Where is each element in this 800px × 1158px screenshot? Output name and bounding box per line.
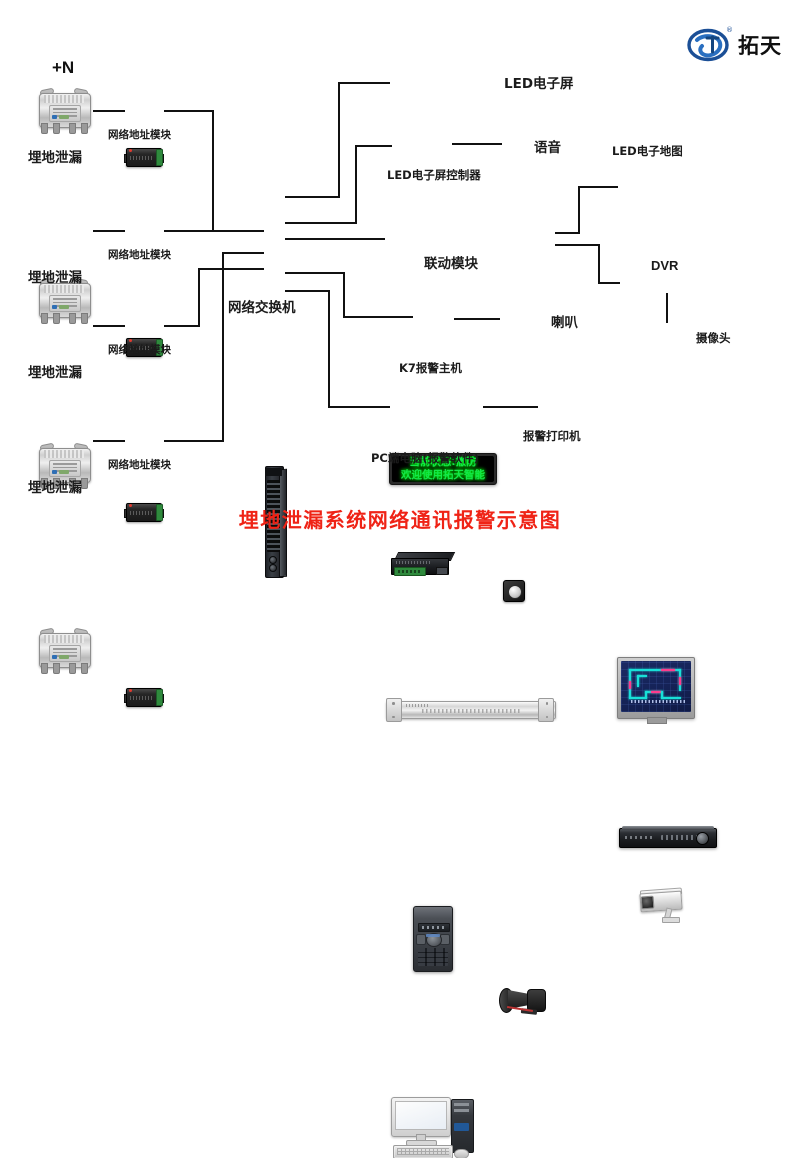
brand-name: 拓天 [738,30,782,60]
wire-switch-pc-h1 [285,290,330,292]
wire-switch-ledctl-h1 [285,222,357,224]
buried-leak-sensor-2-label: 埋地泄漏 [28,266,82,286]
led-screen-controller[interactable] [391,552,453,578]
wire-k7-speaker [454,318,500,320]
wire-sensor4-module4 [93,440,125,442]
wire-trunk3-switch [198,268,264,270]
pc-workstation-label: PC端电脑(报警软件) [371,450,479,466]
buried-leak-sensor-1-label: 埋地泄漏 [28,146,82,166]
surveillance-camera[interactable] [638,886,694,926]
wire-switch-k7-h2 [343,316,413,318]
buried-leak-sensor-1[interactable] [35,88,93,134]
wire-linkage-dvr-h1 [555,244,600,246]
wire-switch-pc-v [328,290,330,408]
voice-announcer-label: 语音 [534,136,561,156]
wire-linkage-map-h1 [555,232,580,234]
plus-n-label: +N [52,58,74,78]
wire-switch-ledctl-h2 [355,145,392,147]
wire-switch-linkage [285,238,385,240]
k7-alarm-host-label: K7报警主机 [399,360,462,376]
k7-alarm-host[interactable] [413,906,453,972]
wire-trunk4-up [222,252,224,442]
wire-sensor1-module1 [93,110,125,112]
wire-switch-k7-v [343,272,345,318]
network-address-module-3-label: 网络地址模块 [108,342,171,357]
linkage-module-label: 联动模块 [424,252,478,272]
wire-dvr-camera [666,293,668,323]
wire-linkage-map-h2 [578,186,618,188]
horn-speaker[interactable] [499,984,549,1016]
network-address-module-1-label: 网络地址模块 [108,127,171,142]
surveillance-camera-label: 摄像头 [696,330,731,346]
wire-module1-trunk [164,110,214,112]
buried-leak-sensor-4-label: 埋地泄漏 [28,476,82,496]
network-switch-label: 网络交换机 [228,296,296,316]
wire-trunk4-switch [222,252,264,254]
brand-logo: ® 拓天 [687,28,782,62]
wire-switch-ledscreen-v [338,82,340,198]
pc-workstation[interactable] [391,1097,483,1158]
wire-sensor2-module2 [93,230,125,232]
network-address-module-2-label: 网络地址模块 [108,247,171,262]
wire-trunk1-down [212,110,214,230]
wire-module4-trunk [164,440,224,442]
wire-sensor3-module3 [93,325,125,327]
led-screen-line2: 欢迎使用拓天智能 [392,469,494,482]
wire-switch-k7-h1 [285,272,345,274]
voice-announcer-device[interactable] [503,580,525,602]
led-electronic-map-label: LED电子地图 [612,143,683,159]
wire-trunk3-up [198,268,200,327]
wire-module3-trunk [164,325,200,327]
wire-pc-printer [483,406,538,408]
dvr-recorder[interactable] [619,826,715,848]
wire-linkage-dvr-h2 [598,282,620,284]
horn-speaker-label: 喇叭 [551,311,578,331]
wire-module2-switch [164,230,264,232]
led-screen-controller-label: LED电子屏控制器 [387,167,481,183]
wire-switch-ledscreen-h1 [285,196,340,198]
buried-leak-sensor-4[interactable] [35,628,93,674]
led-electronic-map[interactable] [617,657,695,719]
alarm-printer-label: 报警打印机 [523,428,581,444]
wire-switch-ledctl-v [355,145,357,224]
diagram-canvas: ® 拓天 +N [0,0,800,579]
diagram-title: 埋地泄漏系统网络通讯报警示意图 [0,504,800,533]
dvr-label: DVR [651,258,678,273]
wire-linkage-dvr-v [598,244,600,284]
wire-switch-pc-h2 [328,406,390,408]
wire-ledctl-voice [452,143,502,145]
buried-leak-sensor-3-label: 埋地泄漏 [28,361,82,381]
wire-switch-ledscreen-h2 [338,82,390,84]
linkage-module[interactable] [386,698,554,720]
registered-mark: ® [726,26,733,34]
network-address-module-4[interactable] [124,685,164,709]
led-display-screen-label: LED电子屏 [504,72,574,92]
tuotian-swirl-logo-icon: ® [687,28,731,62]
network-address-module-4-label: 网络地址模块 [108,457,171,472]
network-address-module-1[interactable] [124,145,164,169]
wire-linkage-map-v [578,186,580,234]
